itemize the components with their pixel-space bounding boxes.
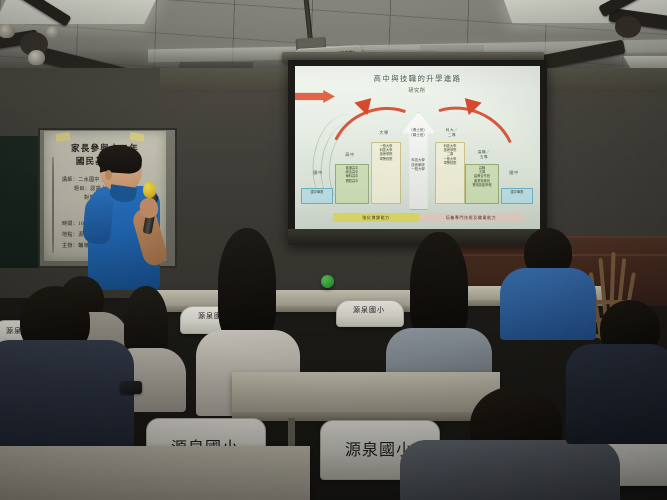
presenter-ear xyxy=(105,170,112,180)
audience-torso xyxy=(400,440,620,500)
chair-label: 源泉國小 xyxy=(336,305,402,315)
tape-icon xyxy=(56,132,71,142)
microphone-icon xyxy=(143,182,156,198)
slide-left-tier1-label: 國中 xyxy=(305,170,331,176)
fan-blade xyxy=(6,0,71,27)
slide-red-arrow-icon xyxy=(295,90,335,103)
slide-right-cream-box: 科技大學 技術學院 二專 一般大學 軍警校院 xyxy=(435,142,465,204)
audience-hair xyxy=(218,228,276,344)
poster-decor-line xyxy=(52,157,54,253)
slide-left-tier2-label: 高中 xyxy=(337,152,363,158)
fan-light xyxy=(0,24,15,38)
projection-screen-bottom-bar xyxy=(288,229,547,245)
slide-top-node: 研究所 xyxy=(389,87,445,94)
fan-light xyxy=(28,50,45,65)
slide-left-cyan-box: 國中畢業 xyxy=(301,188,333,204)
smartphone-on-table xyxy=(120,381,142,394)
fan-hub xyxy=(615,16,641,38)
tape-icon xyxy=(130,132,145,142)
slide-band-left: 強化博課能力 xyxy=(333,213,419,222)
fan-blade xyxy=(534,40,625,71)
slide-title: 高中與技職的升學進路 xyxy=(295,73,540,84)
projection-screen: 高中與技職的升學進路 研究所 （博士班） （碩士班） 科技大學 技術學院 一般大… xyxy=(295,66,540,229)
slide-arrow-text-mid: 科技大學 技術學院 一般大學 xyxy=(399,158,437,172)
slide-left-tier3-label: 大學 xyxy=(371,130,397,136)
slide-left-cream-box: 一般大學 科技大學 技術學院 軍警校院 xyxy=(371,142,401,204)
slide-right-tier3-label: 科大／ 二專 xyxy=(437,128,467,137)
slide-right-cyan-box: 國中畢業 xyxy=(501,188,533,204)
slide-arrow-text-top: （博士班） （碩士班） xyxy=(399,128,437,138)
slide-right-green-box: 高職 五專 建教合作班 產業特殊班 實用技能學程 xyxy=(465,164,499,204)
audience-torso xyxy=(566,344,667,444)
table-leg xyxy=(288,418,295,448)
classroom-photo: 高中與技職的升學進路 研究所 （博士班） （碩士班） 科技大學 技術學院 一般大… xyxy=(0,0,667,500)
slide-left-green-box: 普通高中 綜合高中 單科高中 實驗高中 xyxy=(335,164,369,204)
presenter-sleeve xyxy=(82,195,114,245)
slide-right-tier1-label: 國中 xyxy=(501,170,527,176)
chair[interactable]: 源泉國小 xyxy=(336,300,402,325)
audience-torso xyxy=(0,340,134,456)
green-ball-on-table xyxy=(321,275,334,288)
slide-right-tier2-label: 高職／ 五專 xyxy=(469,150,499,159)
slide-band-right: 培養專門技術及職業能力 xyxy=(419,213,523,222)
classroom-table xyxy=(232,372,500,416)
audience-torso xyxy=(500,268,596,340)
classroom-table xyxy=(0,446,310,500)
fan-light xyxy=(46,26,60,38)
